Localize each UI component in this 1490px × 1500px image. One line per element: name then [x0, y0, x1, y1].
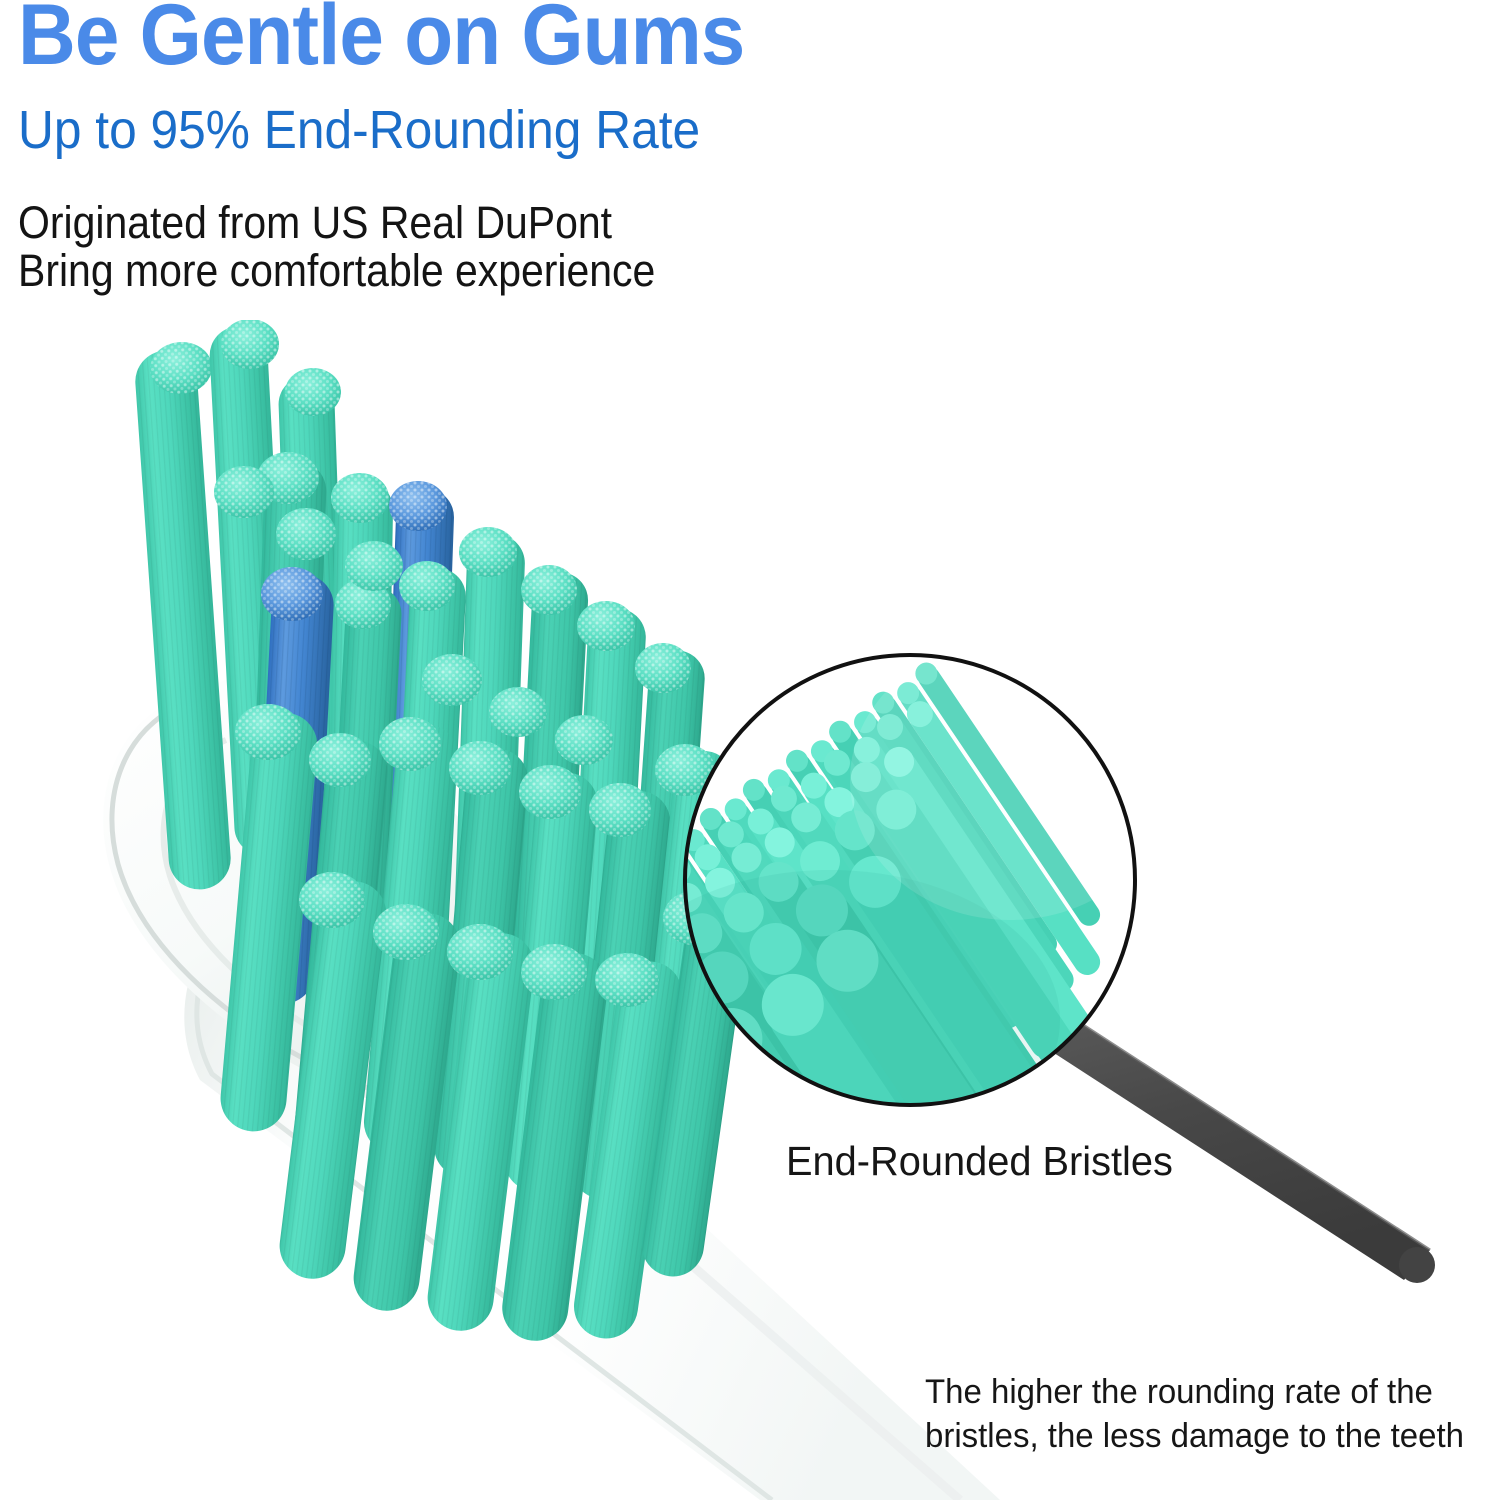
footnote: The higher the rounding rate of the bris… [925, 1370, 1464, 1458]
bristle-tuft [276, 508, 336, 560]
footnote-line-1: The higher the rounding rate of the [925, 1370, 1464, 1414]
product-illustration [0, 320, 1490, 1500]
product-marketing-image: Be Gentle on Gums Up to 95% End-Rounding… [0, 0, 1490, 1500]
body-text-line-2: Bring more comfortable experience [18, 248, 655, 293]
bristle-field [133, 320, 752, 1345]
bristle-tuft [422, 654, 482, 706]
page-subtitle: Up to 95% End-Rounding Rate [18, 103, 700, 157]
magnifier-caption: End-Rounded Bristles [786, 1138, 1173, 1185]
toothbrush-illustration-svg [0, 320, 1490, 1500]
bristle-tuft [489, 687, 547, 737]
page-title: Be Gentle on Gums [18, 0, 744, 78]
footnote-line-2: bristles, the less damage to the teeth [925, 1414, 1464, 1458]
bristle-tuft [214, 466, 274, 518]
bristle-tuft [555, 715, 613, 765]
bristle-tuft [345, 541, 403, 591]
body-text-line-1: Originated from US Real DuPont [18, 200, 612, 245]
